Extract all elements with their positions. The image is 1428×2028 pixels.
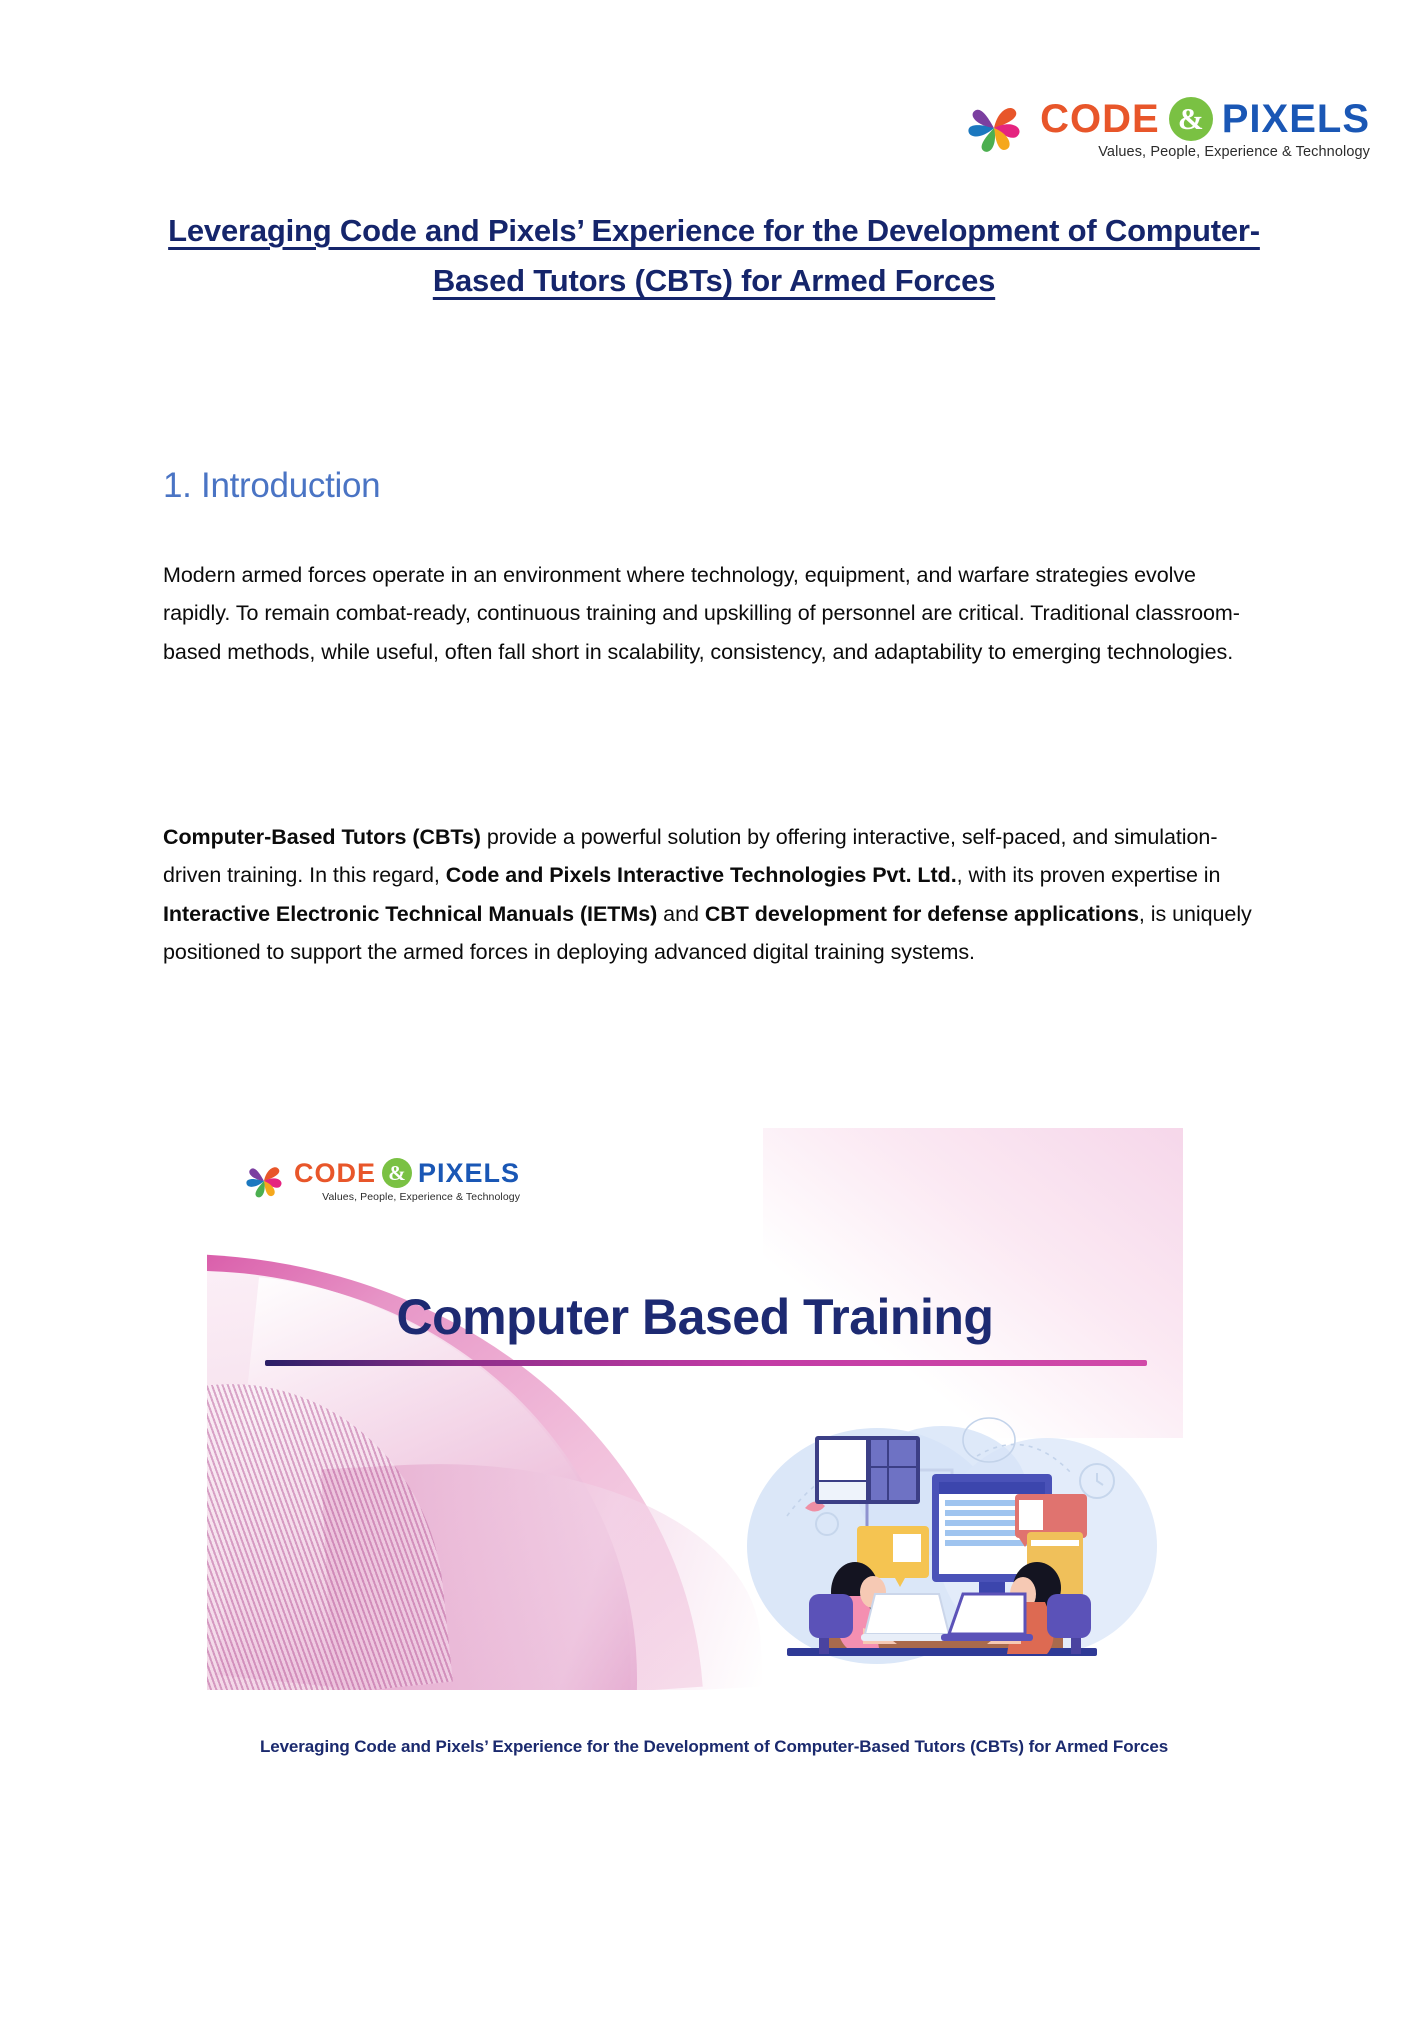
document-page: CODE & PIXELS Values, People, Experience… — [0, 0, 1428, 2028]
logo-wordmark: CODE & PIXELS Values, People, Experience… — [1040, 97, 1370, 160]
logo-tagline: Values, People, Experience & Technology — [1098, 144, 1370, 160]
bold-run-cbts: Computer-Based Tutors (CBTs) — [163, 825, 481, 849]
banner-logo-ampersand-icon: & — [382, 1158, 412, 1188]
banner-gradient-top-right — [763, 1128, 1183, 1438]
bold-run-ietms: Interactive Electronic Technical Manuals… — [163, 902, 657, 926]
bold-run-cbt-development: CBT development for defense applications — [705, 902, 1139, 926]
page-title-text: Leveraging Code and Pixels’ Experience f… — [168, 213, 1260, 298]
banner-logo: CODE & PIXELS Values, People, Experience… — [242, 1158, 520, 1203]
text-run-4: , with its proven expertise in — [957, 863, 1221, 887]
page-title: Leveraging Code and Pixels’ Experience f… — [164, 206, 1264, 306]
banner-logo-wordmark: CODE & PIXELS Values, People, Experience… — [294, 1158, 520, 1203]
banner-logo-pixels-text: PIXELS — [418, 1160, 520, 1187]
figure-caption: Leveraging Code and Pixels’ Experience f… — [164, 1730, 1264, 1765]
paragraph-intro-1: Modern armed forces operate in an enviro… — [163, 556, 1265, 671]
figure-computer-based-training-banner: CODE & PIXELS Values, People, Experience… — [207, 1128, 1183, 1690]
pinwheel-logo-icon — [962, 96, 1026, 160]
training-illustration — [727, 1396, 1157, 1676]
bold-run-company: Code and Pixels Interactive Technologies… — [446, 863, 957, 887]
banner-title: Computer Based Training — [207, 1288, 1183, 1346]
logo-ampersand-icon: & — [1169, 97, 1213, 141]
banner-accent-rule — [265, 1360, 1147, 1366]
paragraph-intro-2: Computer-Based Tutors (CBTs) provide a p… — [163, 818, 1265, 971]
banner-logo-code-text: CODE — [294, 1160, 376, 1187]
text-run-6: and — [657, 902, 705, 926]
logo-code-text: CODE — [1040, 99, 1160, 139]
logo-pixels-text: PIXELS — [1222, 99, 1370, 139]
section-heading-introduction: 1. Introduction — [163, 466, 380, 506]
banner-pinwheel-logo-icon — [242, 1159, 286, 1203]
company-logo: CODE & PIXELS Values, People, Experience… — [962, 96, 1370, 160]
banner-logo-tagline: Values, People, Experience & Technology — [322, 1191, 520, 1203]
